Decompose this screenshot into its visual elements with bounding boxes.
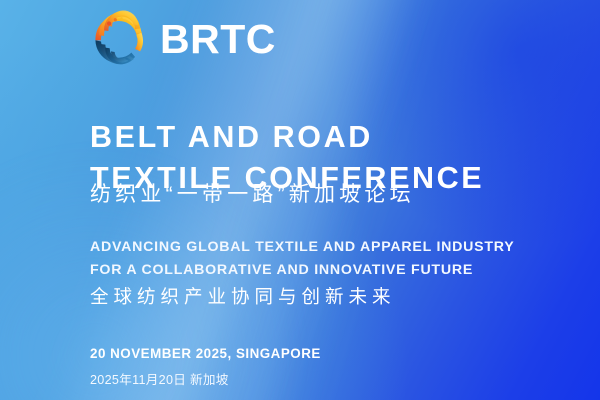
brtc-circular-wave-logo-icon xyxy=(88,8,150,70)
tagline-en-line-1: ADVANCING GLOBAL TEXTILE AND APPAREL IND… xyxy=(90,236,514,259)
tagline-cn: 全球纺织产业协同与创新未来 xyxy=(90,285,514,310)
tagline-block: ADVANCING GLOBAL TEXTILE AND APPAREL IND… xyxy=(90,236,514,310)
headline-line-1: BELT AND ROAD xyxy=(90,117,484,158)
conference-poster: BRTC BELT AND ROAD TEXTILE CONFERENCE 纺织… xyxy=(0,0,600,400)
event-date-cn: 2025年11月20日 新加坡 xyxy=(90,372,321,390)
event-date-en: 20 NOVEMBER 2025, SINGAPORE xyxy=(90,344,321,364)
brand-lockup: BRTC xyxy=(88,8,276,70)
brand-name: BRTC xyxy=(160,19,276,60)
tagline-en-line-2: FOR A COLLABORATIVE AND INNOVATIVE FUTUR… xyxy=(90,259,514,282)
event-date-block: 20 NOVEMBER 2025, SINGAPORE 2025年11月20日 … xyxy=(90,344,321,390)
chinese-title: 纺织业“一带一路”新加坡论坛 xyxy=(90,182,415,208)
